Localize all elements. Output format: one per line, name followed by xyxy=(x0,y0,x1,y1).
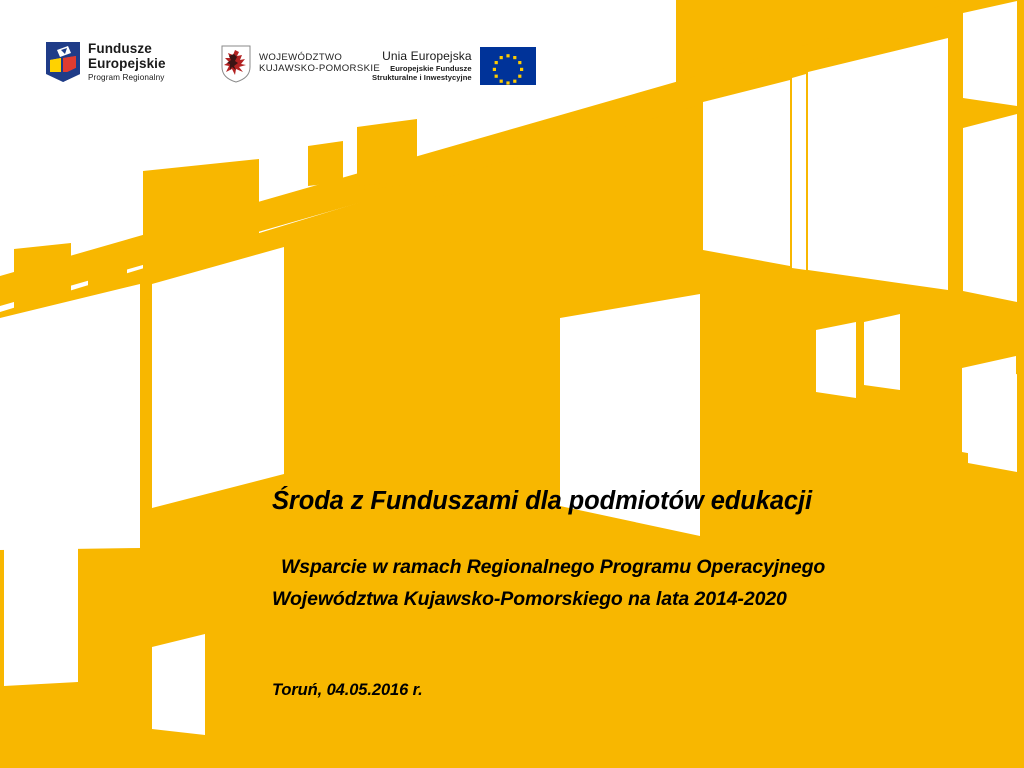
logo-wojewodztwo-kujawsko-pomorskie: WOJEWÓDZTWO KUJAWSKO-POMORSKIE xyxy=(221,45,380,83)
slide-place-and-date: Toruń, 04.05.2016 r. xyxy=(272,681,972,700)
logo-fe-line3: Program Regionalny xyxy=(88,73,166,82)
slide-subtitle-line-2: Województwa Kujawsko-Pomorskiego na lata… xyxy=(272,584,972,616)
logo-fundusze-europejskie: Fundusze Europejskie Program Regionalny xyxy=(46,41,166,82)
fundusze-europejskie-logo-icon xyxy=(46,42,80,82)
presentation-slide: Fundusze Europejskie Program Regionalny … xyxy=(0,0,1024,768)
logo-wojewodztwo-text: WOJEWÓDZTWO KUJAWSKO-POMORSKIE xyxy=(259,53,380,74)
logo-wkp-line2: KUJAWSKO-POMORSKIE xyxy=(259,64,380,75)
logo-fe-line1: Fundusze xyxy=(88,41,166,56)
slide-subtitle-line-1: Wsparcie w ramach Regionalnego Programu … xyxy=(272,552,972,584)
logo-ue-line1: Unia Europejska xyxy=(382,50,472,63)
logo-ue-text: Unia Europejska Europejskie Fundusze Str… xyxy=(372,50,472,82)
european-union-flag-icon xyxy=(480,47,536,85)
logo-unia-europejska: Unia Europejska Europejskie Fundusze Str… xyxy=(372,47,536,85)
kujawsko-pomorskie-coat-of-arms-icon xyxy=(221,45,251,83)
logo-bar: Fundusze Europejskie Program Regionalny … xyxy=(0,0,1024,110)
title-block: Środa z Funduszami dla podmiotów edukacj… xyxy=(272,487,972,700)
logo-fe-line2: Europejskie xyxy=(88,56,166,71)
slide-subtitle: Wsparcie w ramach Regionalnego Programu … xyxy=(272,552,972,615)
logo-ue-line3: Strukturalne i Inwestycyjne xyxy=(372,74,472,83)
slide-main-title: Środa z Funduszami dla podmiotów edukacj… xyxy=(272,487,972,516)
logo-fundusze-text: Fundusze Europejskie Program Regionalny xyxy=(88,41,166,82)
